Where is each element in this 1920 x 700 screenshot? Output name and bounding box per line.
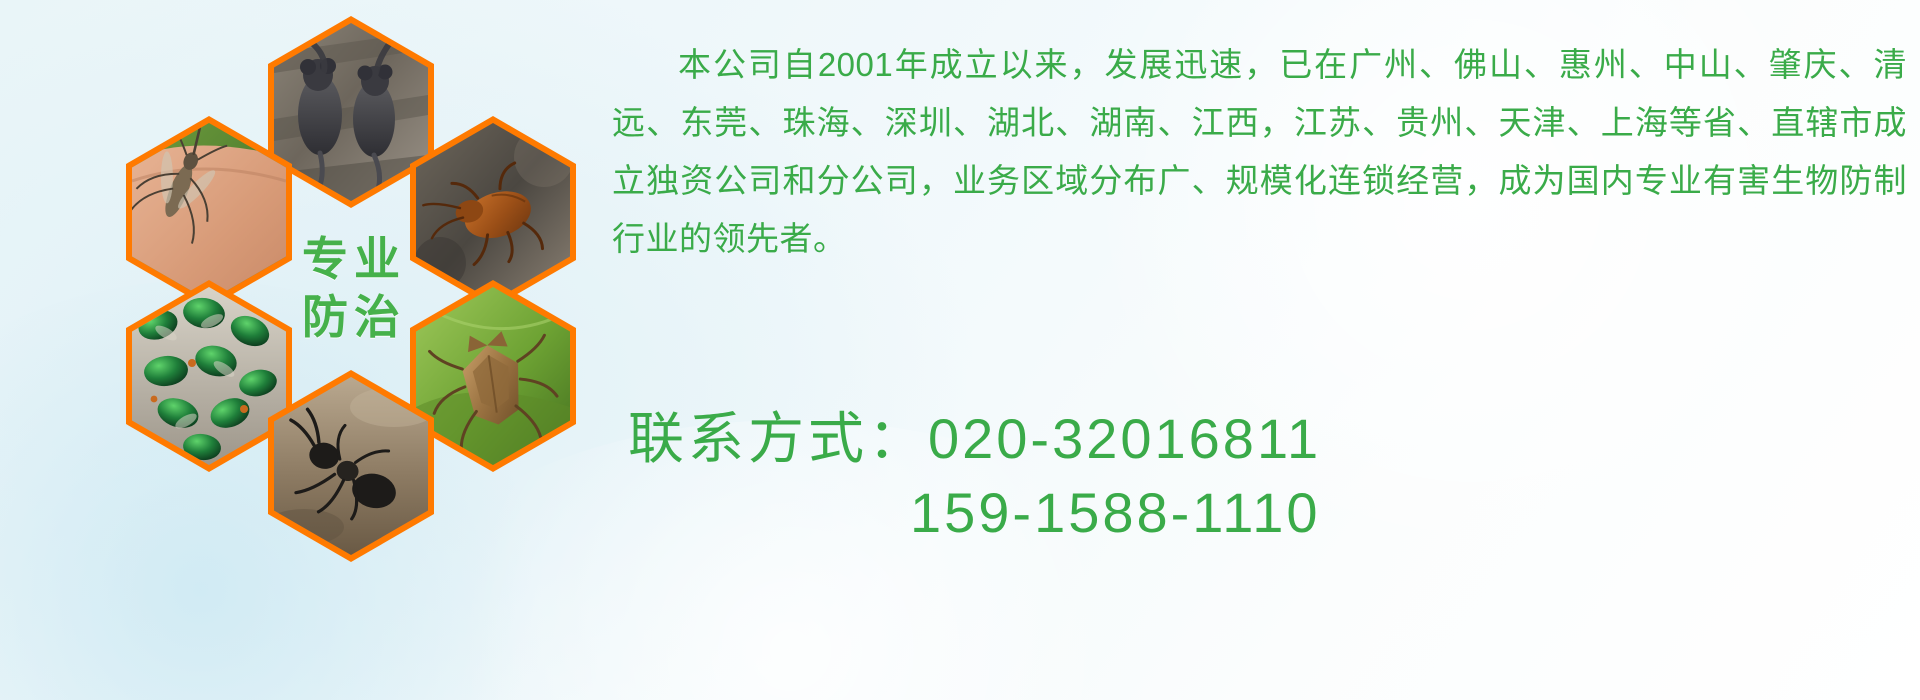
cockroach-illustration: [416, 123, 570, 301]
ant-illustration: [274, 377, 428, 555]
stink-bug-illustration: [416, 287, 570, 465]
hexagon-photo-cluster: 专业 防治: [90, 8, 590, 568]
rats-photo: [274, 23, 428, 201]
company-description-text: 本公司自2001年成立以来，发展迅速，已在广州、佛山、惠州、中山、肇庆、清远、东…: [612, 36, 1907, 268]
hex-label-line-1: 专业: [296, 235, 406, 283]
company-description: 本公司自2001年成立以来，发展迅速，已在广州、佛山、惠州、中山、肇庆、清远、东…: [612, 36, 1907, 268]
ant-photo: [274, 377, 428, 555]
contact-label: 联系方式：: [628, 407, 928, 470]
contact-secondary-row: 159-1588-1110: [628, 476, 1918, 550]
hex-cell-cockroach[interactable]: [410, 116, 576, 308]
contact-block: 联系方式：020-32016811 159-1588-1110: [628, 402, 1918, 550]
rats-illustration: [274, 23, 428, 201]
contact-phone-primary[interactable]: 020-32016811: [928, 407, 1321, 470]
hex-center-label: 专业 防治: [268, 198, 434, 378]
cockroach-photo: [416, 123, 570, 301]
stink-bug-photo: [416, 287, 570, 465]
flies-illustration: [132, 287, 286, 465]
hex-label-line-2: 防治: [296, 293, 406, 341]
contact-phone-secondary[interactable]: 159-1588-1110: [910, 481, 1321, 544]
contact-primary-row: 联系方式：020-32016811: [628, 402, 1918, 476]
mosquito-illustration: [132, 123, 286, 301]
promo-banner: 专业 防治 本公司自2001年成立以来，发展迅速，已在广州、佛山、惠州、中山、肇…: [0, 0, 1920, 700]
hex-cell-ant[interactable]: [268, 370, 434, 562]
mosquito-photo: [132, 123, 286, 301]
hex-cell-rats[interactable]: [268, 16, 434, 208]
flies-photo: [132, 287, 286, 465]
hex-cell-stink-bug[interactable]: [410, 280, 576, 472]
